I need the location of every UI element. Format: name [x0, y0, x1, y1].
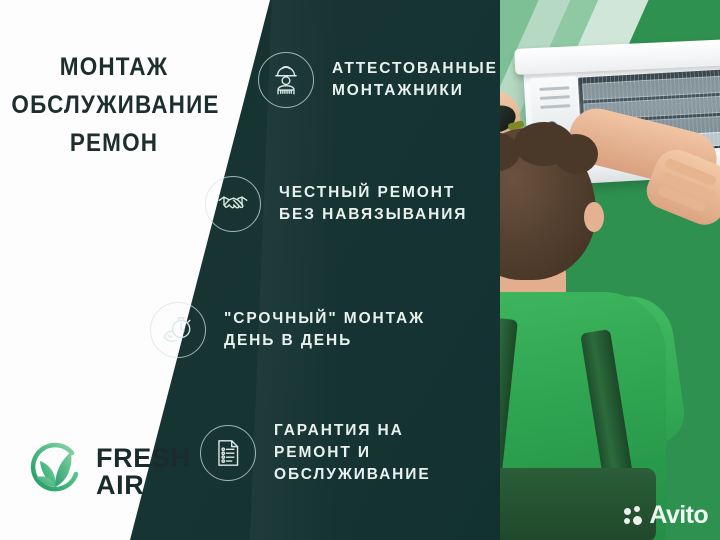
- brand-name-line2: AIR: [96, 472, 191, 499]
- avito-wordmark: Avito: [649, 501, 708, 530]
- page-title: Монтаж Обслуживание Ремон: [11, 48, 216, 162]
- feature-item: Гарантия на ремонт и обслуживание: [200, 420, 431, 486]
- feature-item: Аттестованные монтажники: [258, 52, 498, 108]
- avito-dots-icon: [624, 506, 644, 526]
- feature-item: Честный ремонт без навязывания: [205, 176, 467, 232]
- worker-helmet-icon: [258, 52, 314, 108]
- feature-label: Аттестованные монтажники: [332, 58, 498, 102]
- feature-label: Гарантия на ремонт и обслуживание: [274, 420, 431, 486]
- feature-label: "Срочный" монтаж день в день: [224, 308, 425, 352]
- brand-name-line1: FRESH: [96, 445, 191, 472]
- brand-logo: FRESH AIR: [26, 440, 191, 503]
- banner-canvas: Монтаж Обслуживание Ремон Аттестованные …: [0, 0, 720, 540]
- feature-label: Честный ремонт без навязывания: [279, 182, 467, 226]
- leaf-circle-icon: [26, 440, 84, 503]
- handshake-icon: [205, 176, 261, 232]
- brand-name: FRESH AIR: [96, 445, 191, 499]
- checklist-document-icon: [200, 425, 256, 481]
- avito-watermark: Avito: [624, 501, 708, 530]
- stopwatch-hand-icon: [150, 302, 206, 358]
- feature-item: "Срочный" монтаж день в день: [150, 302, 425, 358]
